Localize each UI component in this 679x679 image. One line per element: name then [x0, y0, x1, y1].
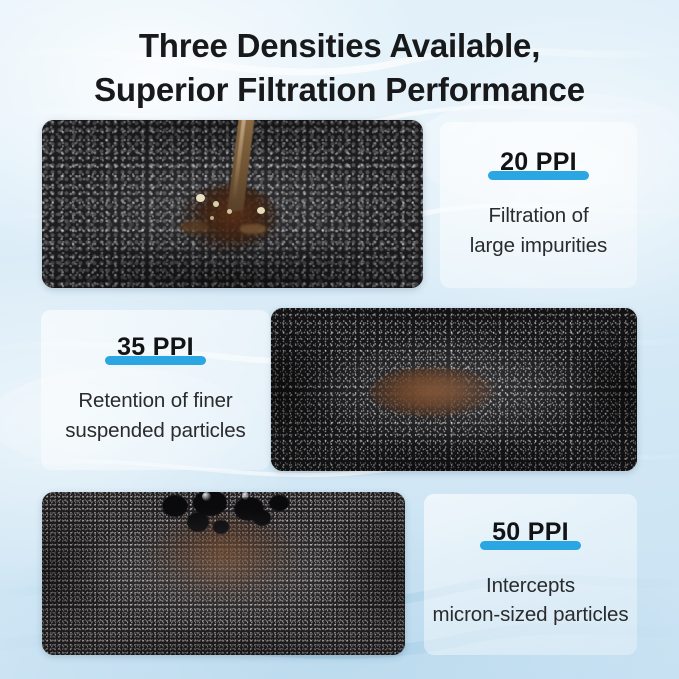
ppi-label: 50 PPI	[487, 518, 574, 546]
foam-shading-fine	[42, 492, 405, 655]
ppi-badge-50: 50 PPI	[487, 520, 574, 545]
feature-row-50ppi: 50 PPI Intercepts micron-sized particles	[0, 0, 679, 679]
text-panel-50ppi: 50 PPI Intercepts micron-sized particles	[424, 494, 637, 655]
description-line-1: Intercepts	[432, 571, 628, 600]
ppi-label: 20 PPI	[495, 148, 582, 176]
ppi-badge-20: 20 PPI	[495, 150, 582, 175]
description-line-2: micron-sized particles	[432, 600, 628, 629]
infographic-page: Three Densities Available, Superior Filt…	[0, 0, 679, 679]
ppi-badge-35: 35 PPI	[112, 335, 199, 360]
photo-50ppi-fine-foam	[42, 492, 405, 655]
description-50ppi: Intercepts micron-sized particles	[432, 571, 628, 629]
ppi-label: 35 PPI	[112, 333, 199, 361]
